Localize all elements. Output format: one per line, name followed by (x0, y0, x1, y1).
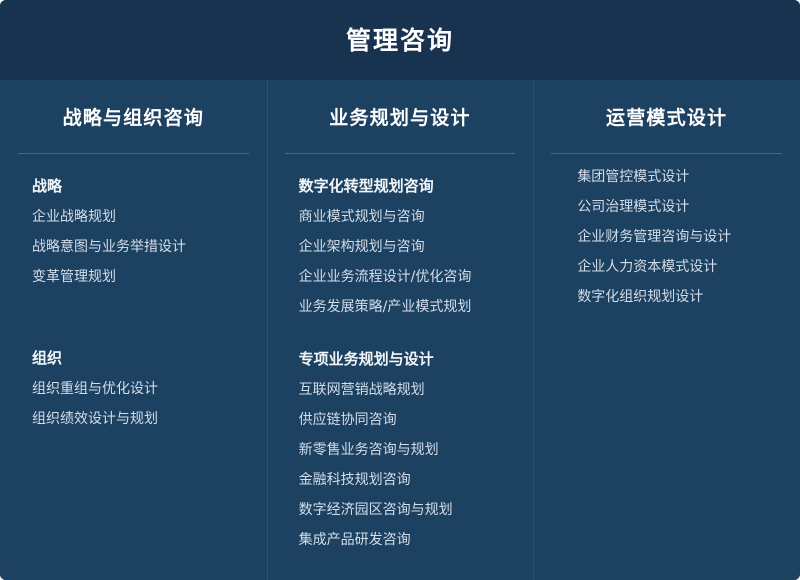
column-divider-left-2 (267, 80, 268, 580)
list-item[interactable]: 公司治理模式设计 (577, 184, 800, 214)
column-divider-left-3 (533, 80, 534, 580)
list-item[interactable]: 金融科技规划咨询 (299, 457, 534, 487)
column-body-2: 数字化转型规划咨询 商业模式规划与咨询 企业架构规划与咨询 企业业务流程设计/优… (267, 154, 534, 547)
list-item[interactable]: 商业模式规划与咨询 (299, 194, 534, 224)
columns-container: 战略与组织咨询 战略 企业战略规划 战略意图与业务举措设计 变革管理规划 组织 … (0, 80, 800, 580)
list-item[interactable]: 组织绩效设计与规划 (32, 396, 267, 426)
list-item[interactable]: 新零售业务咨询与规划 (299, 427, 534, 457)
list-item[interactable]: 企业人力资本模式设计 (577, 244, 800, 274)
list-item[interactable]: 组织重组与优化设计 (32, 366, 267, 396)
section-title-organization: 组织 (32, 284, 267, 366)
list-item[interactable]: 战略意图与业务举措设计 (32, 224, 267, 254)
list-item[interactable]: 业务发展策略/产业模式规划 (299, 284, 534, 314)
column-body-3: 集团管控模式设计 公司治理模式设计 企业财务管理咨询与设计 企业人力资本模式设计… (533, 154, 800, 304)
management-consulting-card: 管理咨询 战略与组织咨询 战略 企业战略规划 战略意图与业务举措设计 变革管理规… (0, 0, 800, 580)
column-business-planning-and-design: 业务规划与设计 数字化转型规划咨询 商业模式规划与咨询 企业架构规划与咨询 企业… (267, 80, 534, 580)
column-strategy-and-organization: 战略与组织咨询 战略 企业战略规划 战略意图与业务举措设计 变革管理规划 组织 … (0, 80, 267, 580)
list-item[interactable]: 变革管理规划 (32, 254, 267, 284)
list-item[interactable]: 供应链协同咨询 (299, 397, 534, 427)
list-item[interactable]: 企业架构规划与咨询 (299, 224, 534, 254)
section-digital-transformation-planning: 数字化转型规划咨询 商业模式规划与咨询 企业架构规划与咨询 企业业务流程设计/优… (299, 154, 534, 314)
section-operating-model-items: 集团管控模式设计 公司治理模式设计 企业财务管理咨询与设计 企业人力资本模式设计… (577, 154, 800, 304)
list-item[interactable]: 集成产品研发咨询 (299, 517, 534, 547)
list-item[interactable]: 数字经济园区咨询与规划 (299, 487, 534, 517)
list-item[interactable]: 集团管控模式设计 (577, 154, 800, 184)
list-item[interactable]: 企业财务管理咨询与设计 (577, 214, 800, 244)
section-title-strategy: 战略 (32, 154, 267, 194)
list-item[interactable]: 数字化组织规划设计 (577, 274, 800, 304)
column-heading-2: 业务规划与设计 (267, 80, 534, 128)
column-heading-3: 运营模式设计 (533, 80, 800, 128)
section-strategy: 战略 企业战略规划 战略意图与业务举措设计 变革管理规划 (32, 154, 267, 284)
card-header-banner: 管理咨询 (0, 0, 800, 80)
column-heading-1: 战略与组织咨询 (0, 80, 267, 128)
column-body-1: 战略 企业战略规划 战略意图与业务举措设计 变革管理规划 组织 组织重组与优化设… (0, 154, 267, 426)
section-title-digital-transformation: 数字化转型规划咨询 (299, 154, 534, 194)
list-item[interactable]: 企业业务流程设计/优化咨询 (299, 254, 534, 284)
column-operating-model-design: 运营模式设计 集团管控模式设计 公司治理模式设计 企业财务管理咨询与设计 企业人… (533, 80, 800, 580)
page-title: 管理咨询 (346, 28, 454, 53)
list-item[interactable]: 企业战略规划 (32, 194, 267, 224)
section-organization: 组织 组织重组与优化设计 组织绩效设计与规划 (32, 284, 267, 426)
list-item[interactable]: 互联网营销战略规划 (299, 367, 534, 397)
section-title-special-business: 专项业务规划与设计 (299, 314, 534, 367)
card-header-inner: 管理咨询 (0, 0, 800, 80)
section-special-business-planning: 专项业务规划与设计 互联网营销战略规划 供应链协同咨询 新零售业务咨询与规划 金… (299, 314, 534, 547)
